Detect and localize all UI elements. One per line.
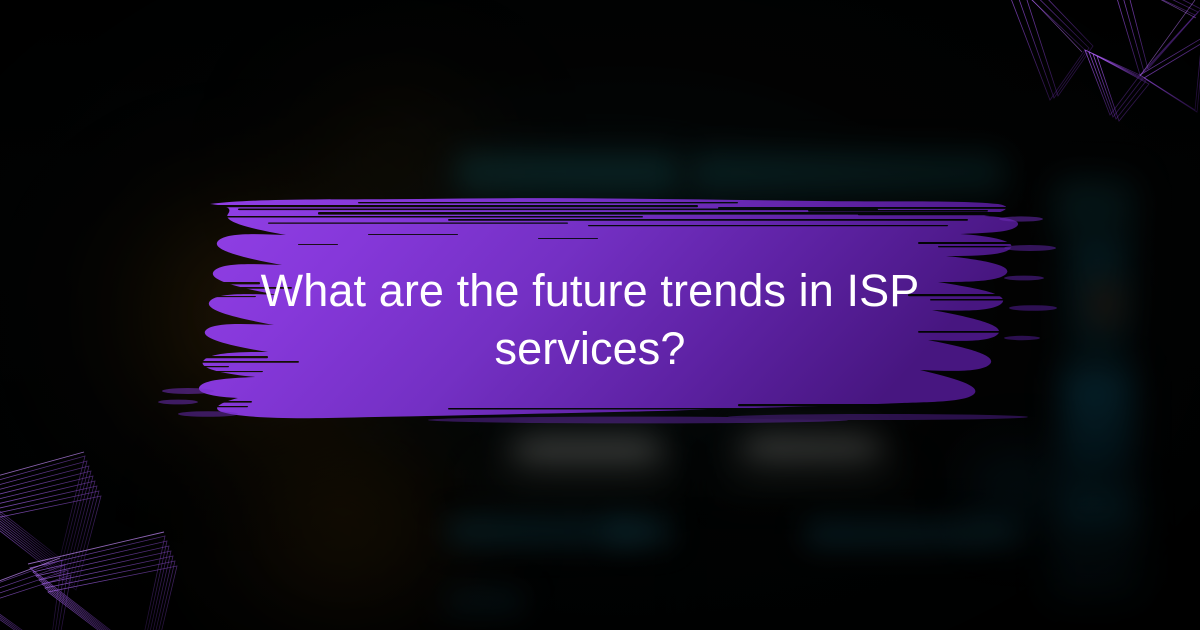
og-share-card: What are the future trends in ISP servic… [0,0,1200,630]
page-title: What are the future trends in ISP servic… [190,262,990,378]
